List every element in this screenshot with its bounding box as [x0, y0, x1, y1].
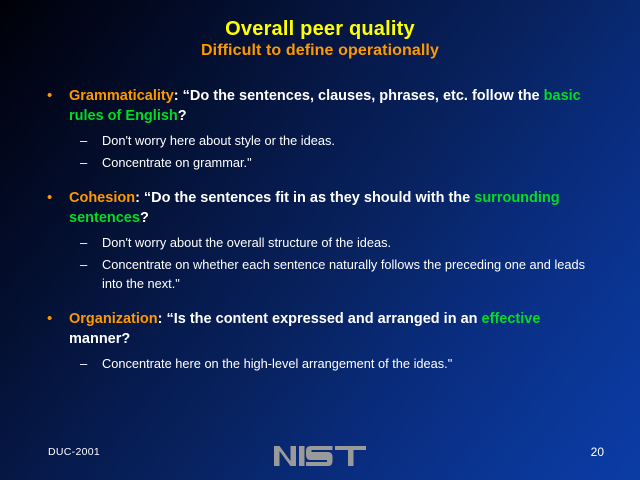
sub-bullet-text: Don't worry here about style or the idea…: [102, 131, 604, 150]
bullet-keyword: Organization: [69, 311, 158, 327]
bullet-keyword: Cohesion: [69, 190, 135, 206]
nist-logo-icon: [272, 442, 368, 470]
sub-bullet-list: – Concentrate here on the high-level arr…: [44, 354, 604, 373]
title-block: Overall peer quality Difficult to define…: [0, 18, 640, 61]
bullet-body: : “Do the sentences fit in as they shoul…: [135, 190, 474, 206]
sub-bullet-item: – Don't worry here about style or the id…: [80, 131, 604, 150]
bullet-tail: ?: [140, 210, 149, 226]
bullet-text: Grammaticality: “Do the sentences, claus…: [69, 86, 604, 126]
bullet-group: • Organization: “Is the content expresse…: [44, 309, 604, 373]
bullet-item: • Organization: “Is the content expresse…: [44, 309, 604, 349]
bullet-dot-icon: •: [44, 188, 69, 208]
bullet-text: Organization: “Is the content expressed …: [69, 309, 604, 349]
page-number: 20: [591, 445, 604, 459]
sub-bullet-text: Concentrate here on the high-level arran…: [102, 354, 604, 373]
footer-conference-label: DUC-2001: [48, 446, 100, 458]
bullet-keyword: Grammaticality: [69, 88, 174, 104]
bullet-dot-icon: •: [44, 309, 69, 329]
sub-bullet-item: – Concentrate here on the high-level arr…: [80, 354, 604, 373]
bullet-group: • Cohesion: “Do the sentences fit in as …: [44, 188, 604, 293]
slide-footer: DUC-2001 20: [0, 436, 640, 480]
presentation-slide: Overall peer quality Difficult to define…: [0, 0, 640, 480]
bullet-body: : “Do the sentences, clauses, phrases, e…: [174, 88, 544, 104]
bullet-highlight: effective: [482, 311, 541, 327]
bullet-item: • Grammaticality: “Do the sentences, cla…: [44, 86, 604, 126]
sub-bullet-item: – Don't worry about the overall structur…: [80, 233, 604, 252]
bullet-text: Cohesion: “Do the sentences fit in as th…: [69, 188, 604, 228]
page-title: Overall peer quality: [0, 18, 640, 40]
sub-bullet-text: Don't worry about the overall structure …: [102, 233, 604, 252]
slide-body: • Grammaticality: “Do the sentences, cla…: [44, 86, 604, 373]
sub-bullet-list: – Don't worry here about style or the id…: [44, 131, 604, 172]
sub-bullet-list: – Don't worry about the overall structur…: [44, 233, 604, 293]
bullet-group: • Grammaticality: “Do the sentences, cla…: [44, 86, 604, 172]
bullet-tail: ?: [178, 108, 187, 124]
dash-icon: –: [80, 233, 102, 252]
dash-icon: –: [80, 255, 102, 274]
sub-bullet-text: Concentrate on grammar.": [102, 153, 604, 172]
bullet-tail: manner?: [69, 331, 130, 347]
bullet-body: : “Is the content expressed and arranged…: [158, 311, 482, 327]
sub-bullet-item: – Concentrate on whether each sentence n…: [80, 255, 604, 293]
dash-icon: –: [80, 354, 102, 373]
dash-icon: –: [80, 153, 102, 172]
bullet-item: • Cohesion: “Do the sentences fit in as …: [44, 188, 604, 228]
page-subtitle: Difficult to define operationally: [0, 41, 640, 61]
bullet-dot-icon: •: [44, 86, 69, 106]
sub-bullet-text: Concentrate on whether each sentence nat…: [102, 255, 604, 293]
sub-bullet-item: – Concentrate on grammar.": [80, 153, 604, 172]
dash-icon: –: [80, 131, 102, 150]
